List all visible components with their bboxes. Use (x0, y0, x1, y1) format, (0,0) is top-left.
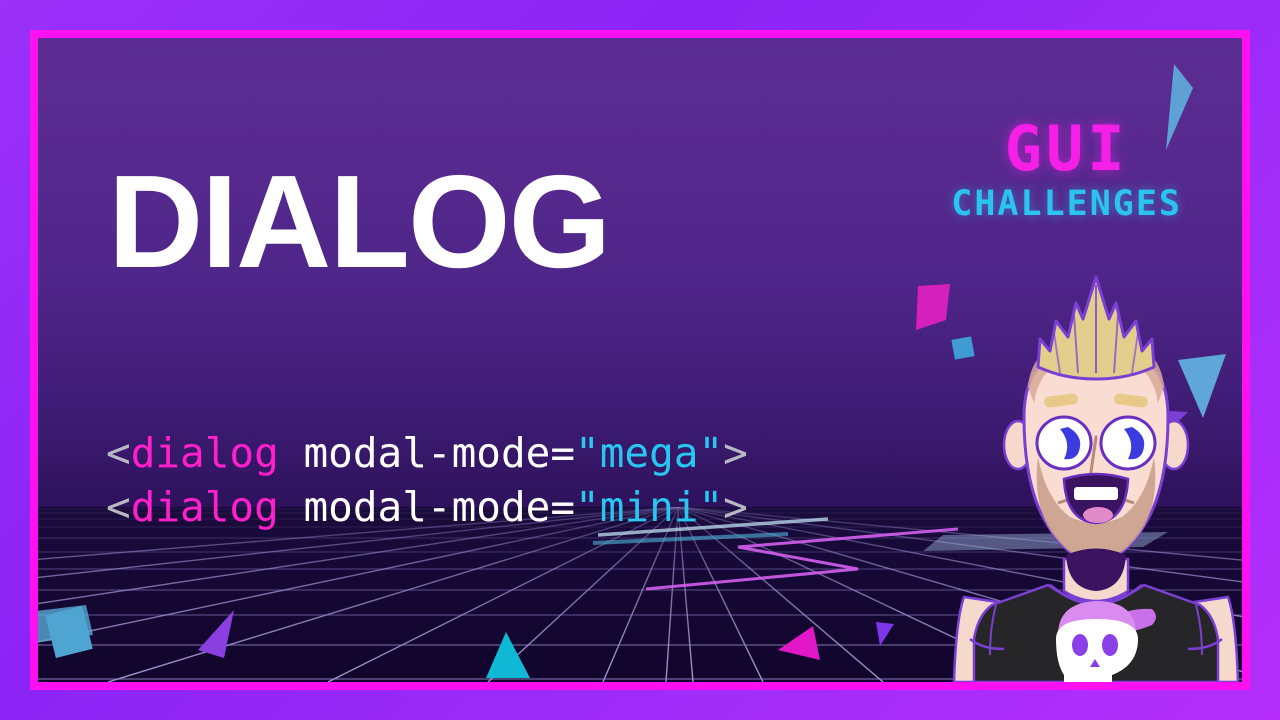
code-tag-name: dialog (131, 483, 279, 531)
code-bracket-close: > (723, 483, 748, 531)
logo-line-challenges: CHALLENGES (951, 187, 1182, 222)
presenter-avatar (946, 267, 1242, 682)
code-equals: = (550, 429, 575, 477)
code-bracket-close: > (723, 429, 748, 477)
thumbnail-canvas: DIALOG <dialog modal-mode="mega"> <dialo… (0, 0, 1280, 720)
code-attr-value: mini (600, 483, 699, 531)
code-snippet: <dialog modal-mode="mega"> <dialog modal… (106, 426, 748, 534)
mohawk-hair-icon (1038, 277, 1154, 379)
code-quote-close: " (698, 483, 723, 531)
code-bracket-open: < (106, 483, 131, 531)
code-quote-open: " (575, 483, 600, 531)
code-quote-open: " (575, 429, 600, 477)
avatar-svg (946, 267, 1242, 682)
code-attr-name: modal-mode (303, 429, 550, 477)
scene-stage: DIALOG <dialog modal-mode="mega"> <dialo… (38, 38, 1242, 682)
gui-challenges-logo: GUI CHALLENGES (951, 118, 1182, 222)
code-space (279, 483, 304, 531)
logo-line-gui: GUI (951, 118, 1182, 180)
code-tag-name: dialog (131, 429, 279, 477)
avatar-head (1004, 345, 1188, 591)
code-line-mini: <dialog modal-mode="mini"> (106, 480, 748, 534)
code-space (279, 429, 304, 477)
page-title: DIALOG (108, 156, 609, 288)
code-attr-value: mega (600, 429, 699, 477)
code-attr-name: modal-mode (303, 483, 550, 531)
magenta-border-frame: DIALOG <dialog modal-mode="mega"> <dialo… (30, 30, 1250, 690)
code-equals: = (550, 483, 575, 531)
code-bracket-open: < (106, 429, 131, 477)
quad-magenta-icon (916, 284, 950, 330)
code-quote-close: " (698, 429, 723, 477)
code-line-mega: <dialog modal-mode="mega"> (106, 426, 748, 480)
